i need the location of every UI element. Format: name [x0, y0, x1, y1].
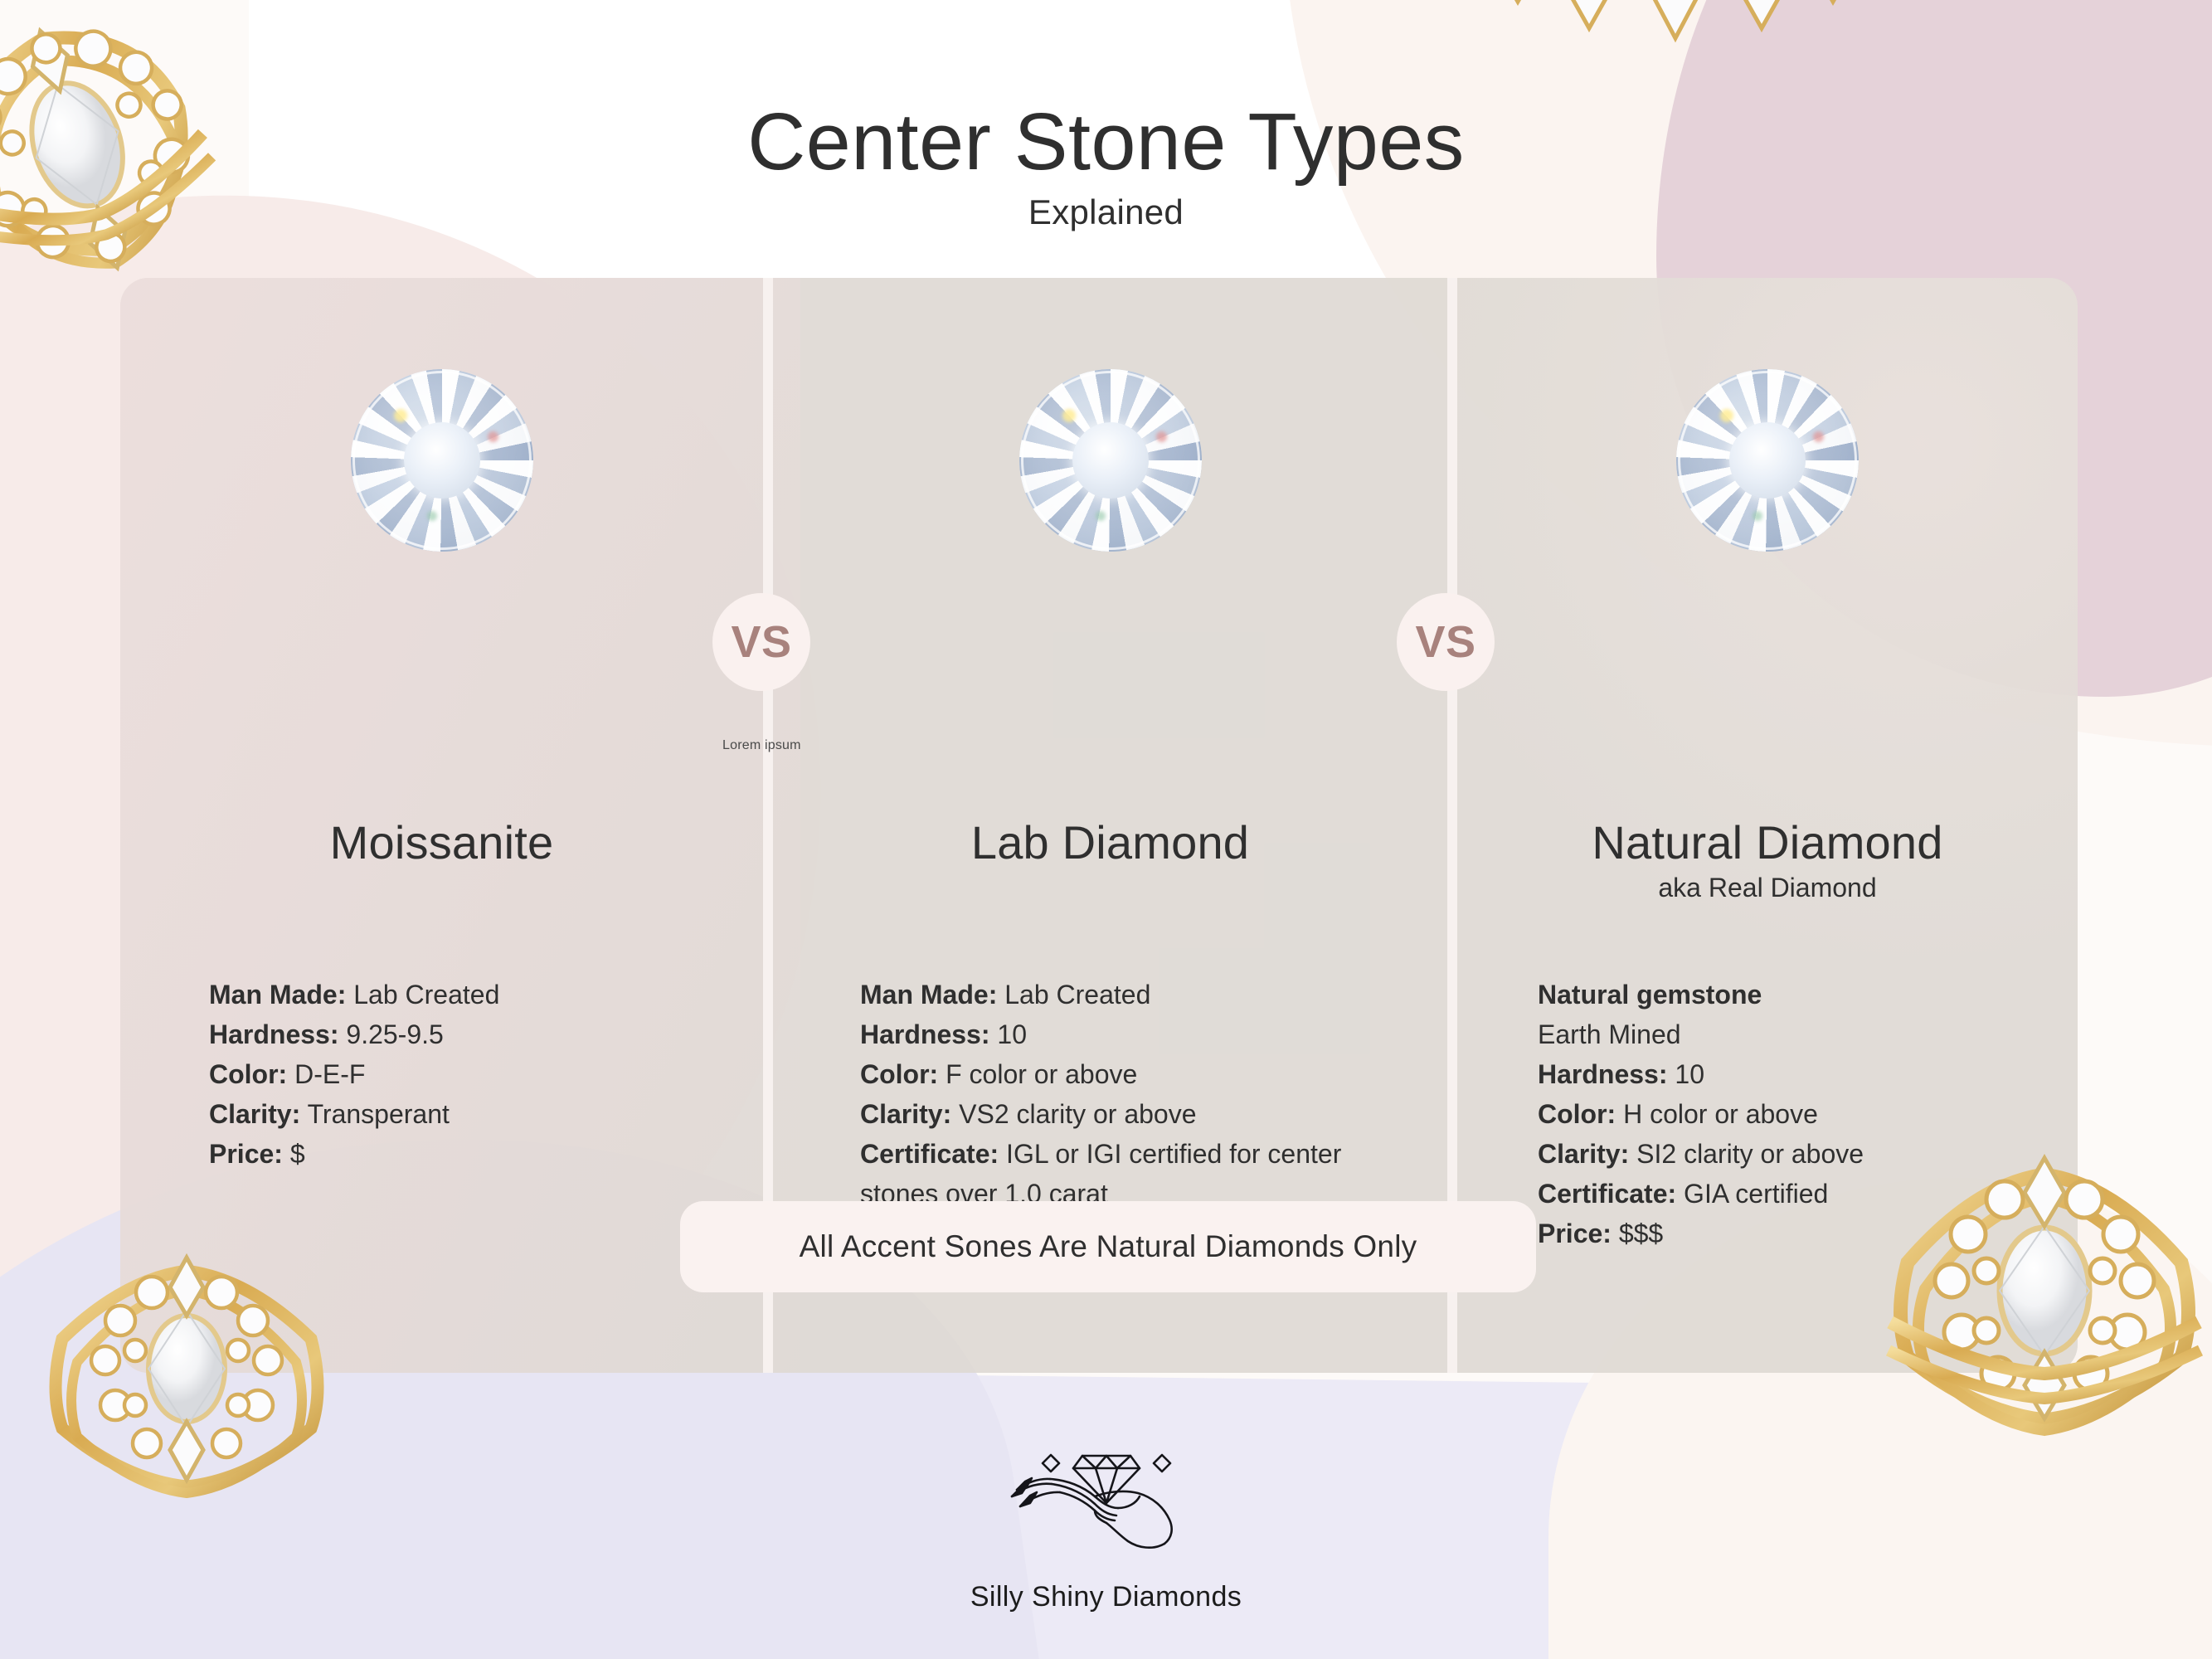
spec-line: Natural gemstone: [1538, 975, 2069, 1014]
column-head-moissanite: Moissanite: [120, 817, 763, 869]
spec-key: Clarity:: [1538, 1139, 1629, 1169]
ring-image-bottom-left: [25, 1203, 348, 1551]
ring-image-top-right: [1460, 0, 1891, 141]
spec-key: Natural gemstone: [1538, 980, 1762, 1010]
spec-value: H color or above: [1616, 1099, 1818, 1129]
spec-value: Lab Created: [346, 980, 499, 1010]
gem-wrap-moissanite: [120, 369, 763, 552]
spec-key: Color:: [209, 1059, 287, 1089]
spec-key: Clarity:: [860, 1099, 951, 1129]
brand-name: Silly Shiny Diamonds: [970, 1581, 1242, 1613]
spec-key: Price:: [209, 1139, 283, 1169]
spec-key: Hardness:: [1538, 1059, 1668, 1089]
spec-value: Lab Created: [997, 980, 1150, 1010]
lorem-placeholder-note: Lorem ipsum: [722, 738, 801, 753]
spec-line: Hardness: 9.25-9.5: [209, 1014, 707, 1054]
gem-girdle: [352, 371, 532, 550]
round-brilliant-gem-icon: [1019, 369, 1202, 552]
spec-value: 9.25-9.5: [339, 1019, 444, 1049]
spec-value: 10: [1668, 1059, 1704, 1089]
vs-badge-label: VS: [731, 616, 791, 668]
gem-girdle: [1678, 371, 1857, 550]
spec-value: GIA certified: [1676, 1179, 1828, 1209]
ring-image-top-left: [0, 0, 352, 373]
spec-key: Hardness:: [860, 1019, 990, 1049]
spec-value: VS2 clarity or above: [951, 1099, 1196, 1129]
spec-line: Clarity: Transperant: [209, 1094, 707, 1134]
vs-badge-label: VS: [1415, 616, 1475, 668]
vs-badge-2: VS: [1397, 593, 1495, 691]
round-brilliant-gem-icon: [351, 369, 533, 552]
spec-key: Man Made:: [860, 980, 997, 1010]
spec-value: F color or above: [938, 1059, 1137, 1089]
hand-holding-diamond-icon: [974, 1427, 1239, 1568]
column-head-natural-diamond: Natural Diamond aka Real Diamond: [1457, 817, 2078, 903]
round-brilliant-gem-icon: [1676, 369, 1859, 552]
spec-key: Certificate:: [1538, 1179, 1676, 1209]
spec-value: $: [283, 1139, 305, 1169]
spec-line: Clarity: VS2 clarity or above: [860, 1094, 1424, 1134]
spec-key: Hardness:: [209, 1019, 339, 1049]
spec-line: Price: $: [209, 1134, 707, 1174]
ring-image-bottom-right: [1866, 1078, 2212, 1510]
column-title: Lab Diamond: [773, 817, 1447, 869]
spec-key: Man Made:: [209, 980, 346, 1010]
spec-line: Man Made: Lab Created: [209, 975, 707, 1014]
accent-stones-banner: All Accent Sones Are Natural Diamonds On…: [680, 1201, 1536, 1292]
spec-list-moissanite: Man Made: Lab CreatedHardness: 9.25-9.5C…: [209, 975, 707, 1174]
spec-value: Transperant: [300, 1099, 450, 1129]
spec-value: Earth Mined: [1538, 1019, 1681, 1049]
spec-line: Color: D-E-F: [209, 1054, 707, 1094]
spec-value: D-E-F: [287, 1059, 365, 1089]
accent-stones-banner-label: All Accent Sones Are Natural Diamonds On…: [800, 1229, 1417, 1264]
spec-key: Certificate:: [860, 1139, 999, 1169]
spec-line: Man Made: Lab Created: [860, 975, 1424, 1014]
gem-wrap-lab-diamond: [773, 369, 1447, 552]
column-title: Moissanite: [120, 817, 763, 869]
spec-key: Color:: [1538, 1099, 1616, 1129]
spec-key: Clarity:: [209, 1099, 300, 1129]
spec-value: $$$: [1612, 1219, 1663, 1248]
spec-value: 10: [990, 1019, 1027, 1049]
vs-badge-1: VS: [712, 593, 810, 691]
infographic-canvas: Center Stone Types Explained Moissanite: [0, 0, 2212, 1659]
gem-girdle: [1021, 371, 1200, 550]
spec-key: Color:: [860, 1059, 938, 1089]
spec-line: Hardness: 10: [860, 1014, 1424, 1054]
spec-value: SI2 clarity or above: [1629, 1139, 1864, 1169]
spec-line: Earth Mined: [1538, 1014, 2069, 1054]
column-title: Natural Diamond: [1457, 817, 2078, 869]
spec-key: Price:: [1538, 1219, 1612, 1248]
gem-wrap-natural-diamond: [1457, 369, 2078, 552]
column-head-lab-diamond: Lab Diamond: [773, 817, 1447, 869]
column-subtitle: aka Real Diamond: [1457, 873, 2078, 903]
spec-line: Color: F color or above: [860, 1054, 1424, 1094]
